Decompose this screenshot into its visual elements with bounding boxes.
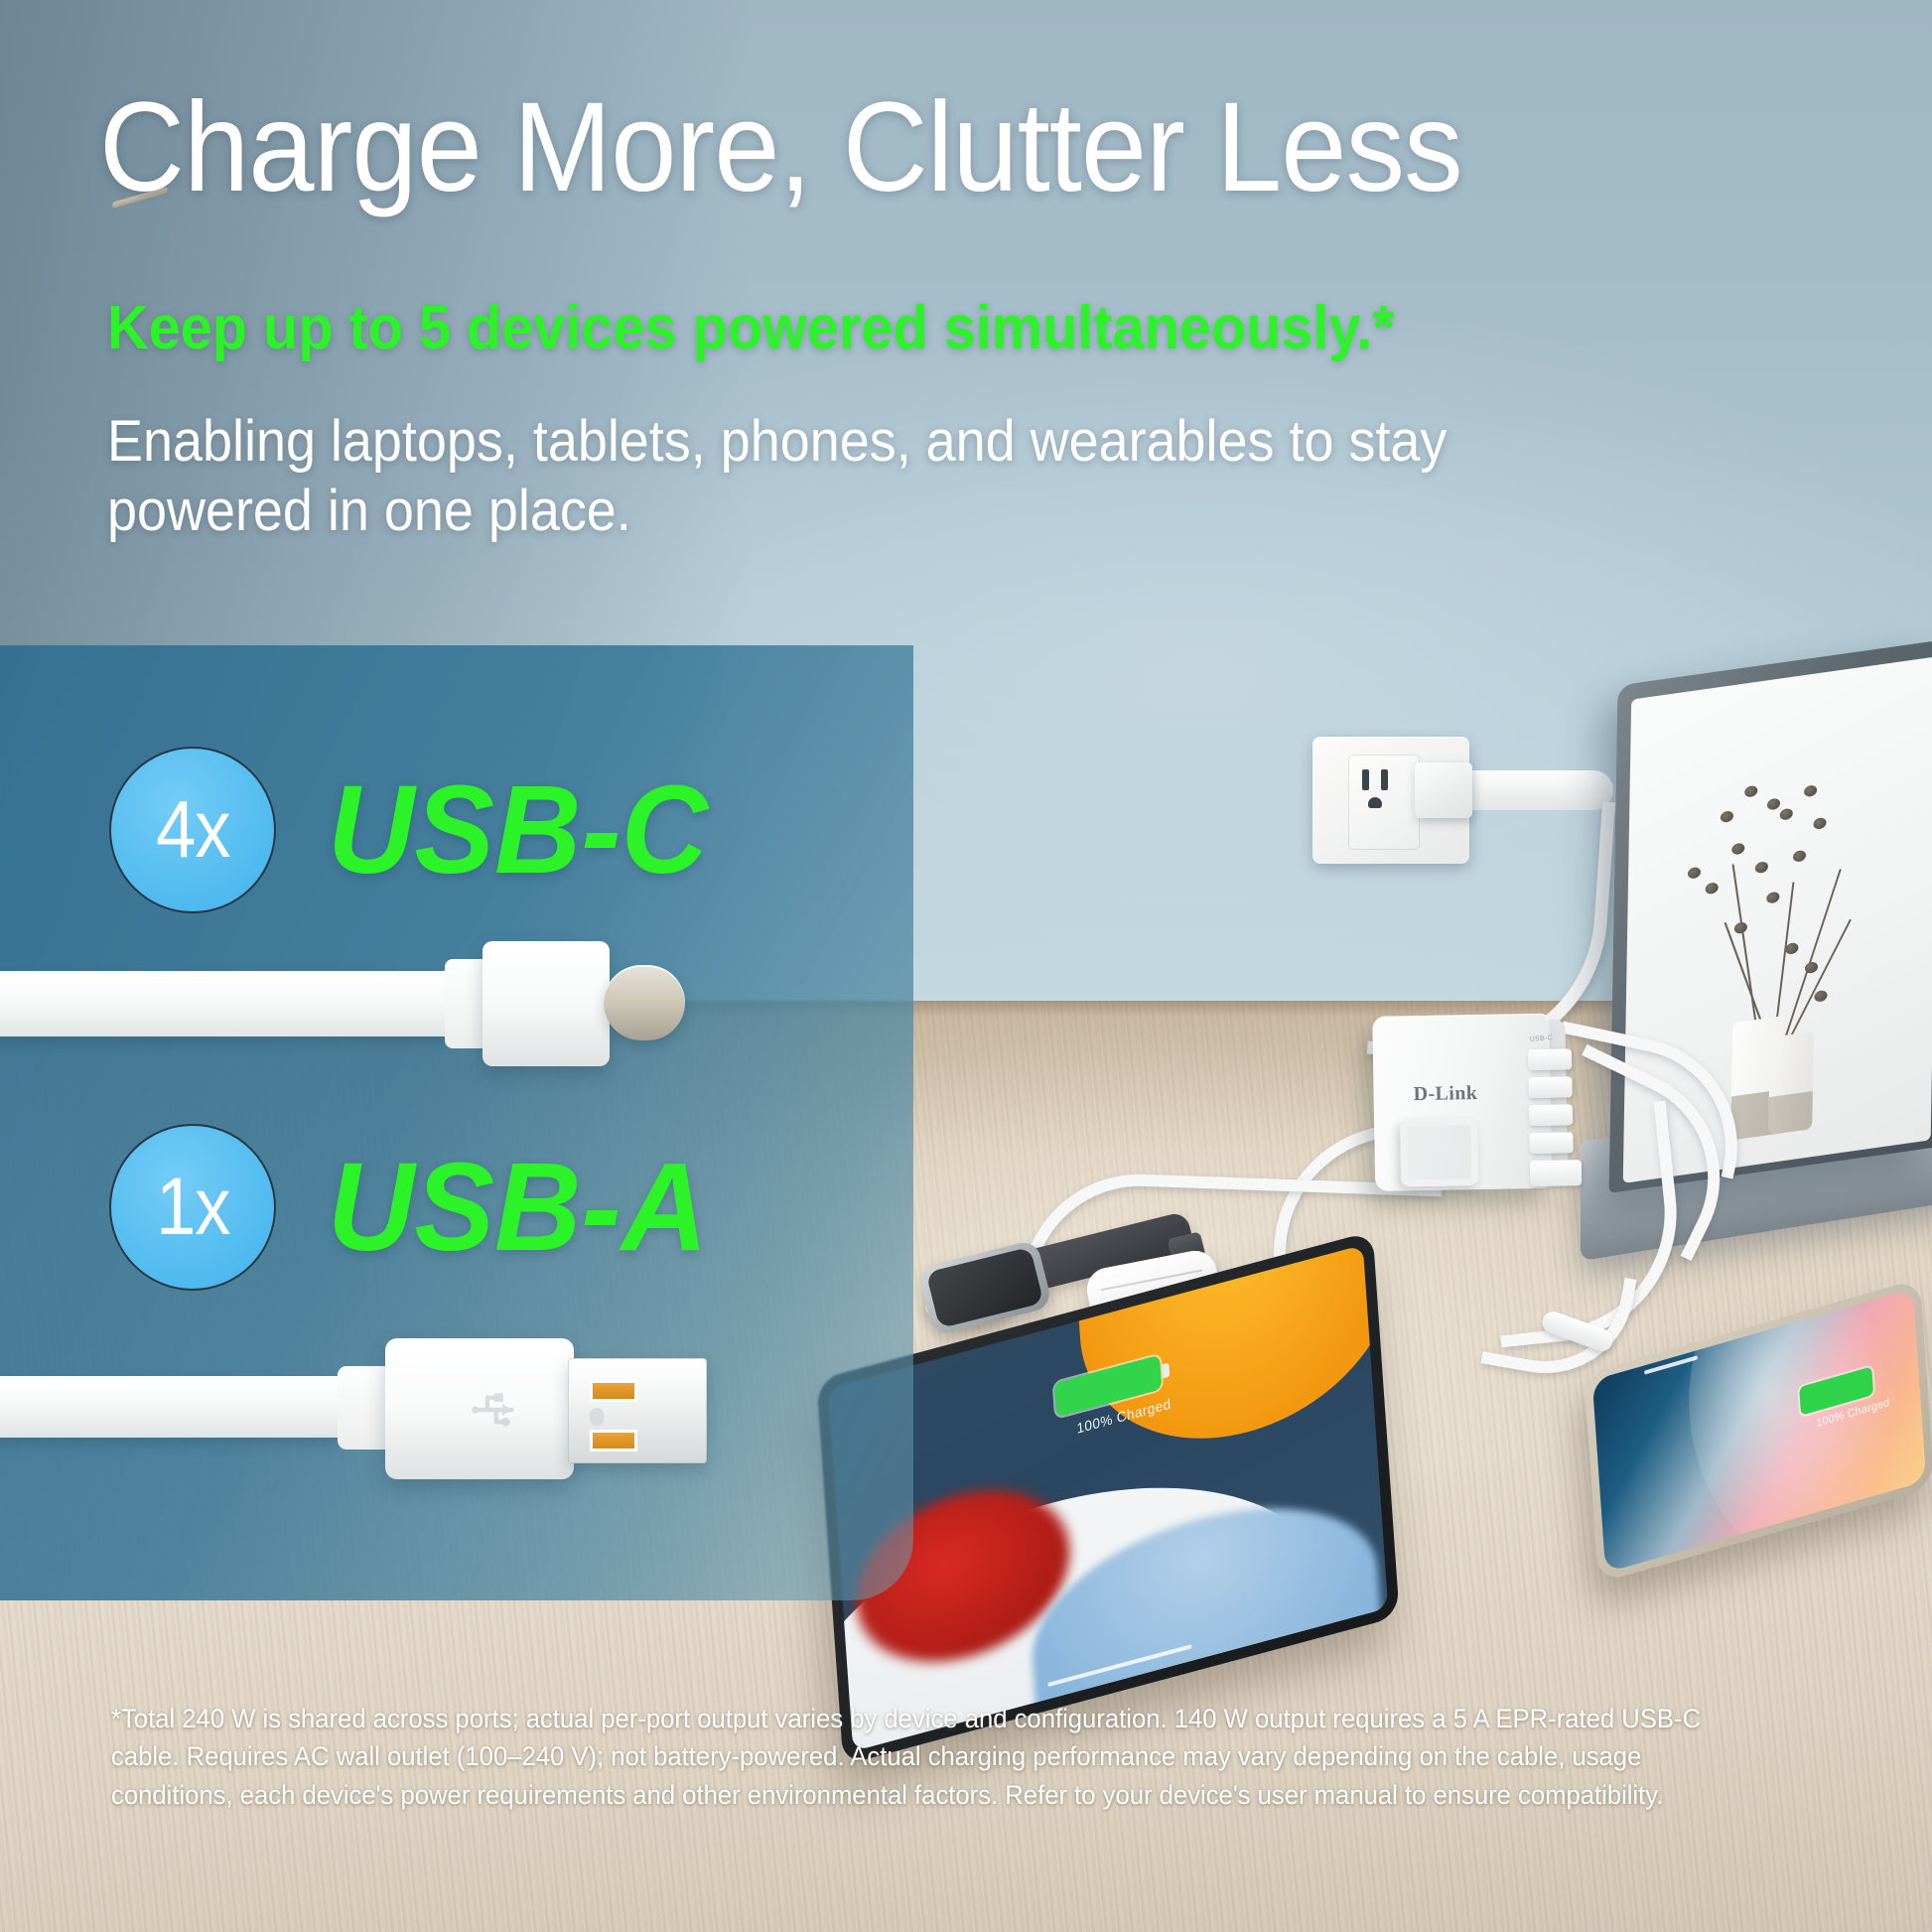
usb-a-connector-icon [568,1358,707,1463]
usb-a-count-badge: 1x [109,1124,276,1291]
battery-tip-icon [1163,1362,1171,1378]
usb-a-contact-divider [590,1408,604,1426]
footnote-text: *Total 240 W is shared across ports; act… [111,1700,1743,1814]
usb-trident-icon [467,1382,522,1438]
charger-port-4 [1529,1132,1573,1154]
usb-c-count-badge: 4x [109,747,276,913]
marketing-banner: D-Link USB-C [0,0,1932,1932]
dlink-brand-logo: D-Link [1413,1082,1477,1106]
outlet-slot-left [1362,769,1369,790]
page-title: Charge More, Clutter Less [99,83,1725,213]
charger-port-2 [1528,1076,1572,1098]
usb-c-count-label: 4x [156,789,229,871]
outlet-ground-slot [1368,797,1382,808]
usb-c-connector-icon [604,965,685,1040]
feature-row-usb-a: 1x USB-A [109,1124,716,1291]
usb-c-connector-shell [483,941,610,1066]
usb-c-port-label: USB-C [328,767,708,893]
usb-c-cable-wire [0,971,457,1036]
charger-body: D-Link [1372,1014,1552,1191]
usb-a-contact-pin-bottom [590,1430,637,1451]
vase-right [1768,1032,1814,1135]
subheadline: Keep up to 5 devices powered simultaneou… [107,296,1750,362]
usb-a-count-label: 1x [156,1167,229,1248]
dlink-charger: D-Link USB-C [1372,1013,1586,1215]
lede-paragraph: Enabling laptops, tablets, phones, and w… [107,407,1473,545]
footnote-disclaimer: *Total 240 W is shared across ports; act… [111,1700,1743,1814]
feature-row-usb-c: 4x USB-C [109,747,716,913]
charger-port-1 [1528,1048,1572,1070]
phone-speaker-slot [1644,1355,1698,1375]
usb-a-contact-pin-top [590,1380,637,1402]
charger-port-3 [1529,1104,1573,1126]
charger-port-5 [1530,1160,1582,1186]
usb-a-port-label: USB-A [328,1145,708,1270]
charger-foldout-stand [1400,1118,1478,1186]
usb-a-cable-wire [0,1376,347,1438]
